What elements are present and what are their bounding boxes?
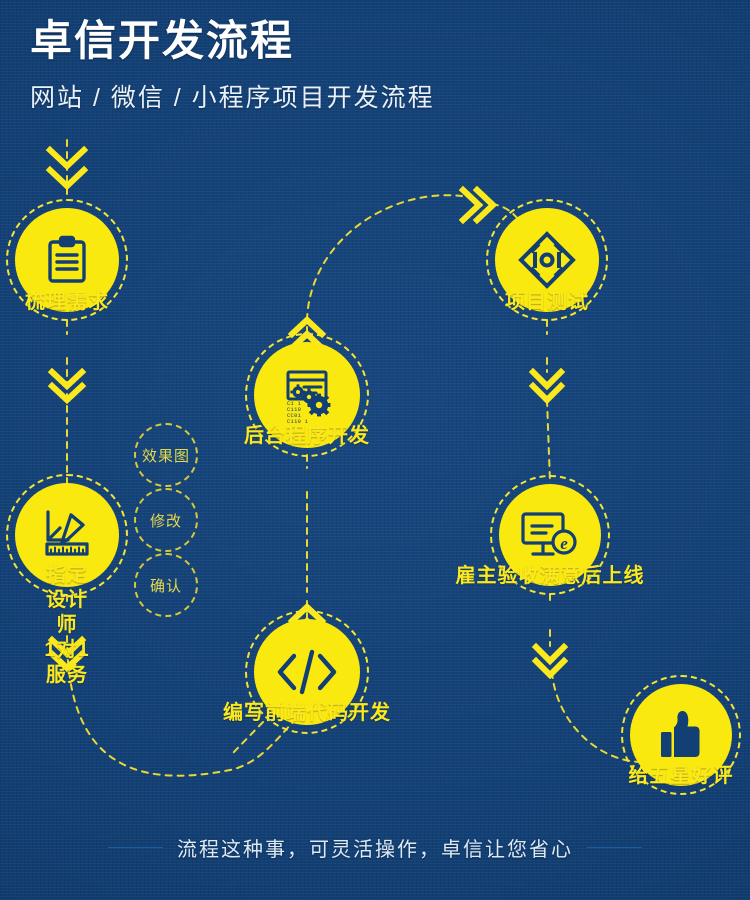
header: 卓信开发流程 网站 / 微信 / 小程序项目开发流程 [30, 18, 435, 114]
page-title: 卓信开发流程 [30, 18, 435, 64]
flow-diagram-stage: 卓信开发流程 网站 / 微信 / 小程序项目开发流程 梳理需求 [0, 0, 750, 900]
arrow-top-into-requirements [50, 150, 84, 186]
node-launch-label: 雇主验收满意后上线 [456, 564, 645, 589]
bubble-confirmation-label: 确认 [150, 575, 182, 596]
code-gears-icon: C1 1 C110 CC01 C110 1 [276, 364, 338, 426]
node-review[interactable]: 给五星好评 [630, 684, 732, 786]
wire-arc-backend-to-testing [307, 195, 462, 320]
gear-small [290, 384, 305, 399]
target-diamond-icon [517, 230, 577, 290]
svg-text:C110: C110 [287, 407, 301, 413]
page-subtitle: 网站 / 微信 / 小程序项目开发流程 [30, 78, 435, 114]
footer-rule-left [108, 847, 163, 848]
footer: 流程这种事，可灵活操作，卓信让您省心 [0, 833, 750, 862]
bubble-mockup[interactable]: 效果图 [134, 423, 198, 487]
node-designer-label: 指定设计师 1对1服务 [41, 563, 93, 688]
bubble-revision-label: 修改 [150, 510, 182, 531]
clipboard-icon [41, 234, 93, 286]
node-requirements[interactable]: 梳理需求 [15, 208, 119, 312]
node-frontend[interactable]: 编写前端代码开发 [254, 619, 360, 725]
browser-e-glyph: e [553, 531, 575, 553]
node-frontend-label: 编写前端代码开发 [223, 701, 391, 726]
arrow-launch-to-review [536, 647, 564, 675]
wire-testing-to-launch [547, 400, 550, 482]
bubble-mockup-label: 效果图 [142, 445, 190, 466]
arrow-testing-to-launch [533, 372, 561, 400]
footer-text: 流程这种事，可灵活操作，卓信让您省心 [177, 833, 573, 862]
thumbs-up-icon [654, 708, 708, 762]
footer-rule-right [587, 847, 642, 848]
svg-text:e: e [560, 534, 568, 553]
node-designer[interactable]: 指定设计师 1对1服务 [15, 483, 119, 587]
monitor-browser-icon: e [519, 509, 581, 561]
node-testing-label: 项目测试 [505, 290, 589, 315]
gear-medium [301, 389, 318, 406]
design-tools-icon [38, 506, 96, 564]
node-backend[interactable]: C1 1 C110 CC01 C110 1 [254, 342, 360, 448]
arrow-arc-to-testing [463, 190, 493, 220]
svg-text:C1 1: C1 1 [287, 401, 301, 407]
arrow-requirements-to-designer [52, 372, 82, 400]
node-backend-label: 后台程序开发 [244, 424, 370, 449]
node-review-label: 给五星好评 [629, 764, 734, 789]
bubble-confirmation[interactable]: 确认 [134, 553, 198, 617]
wire-frontend-to-label [232, 722, 263, 754]
bubble-revision[interactable]: 修改 [134, 488, 198, 552]
angle-brackets-icon [274, 646, 340, 698]
gear-large [308, 394, 331, 417]
node-launch[interactable]: e 雇主验收满意后上线 [499, 484, 601, 586]
svg-text:CC01: CC01 [287, 413, 301, 419]
node-requirements-label: 梳理需求 [25, 290, 109, 315]
node-testing[interactable]: 项目测试 [495, 208, 599, 312]
